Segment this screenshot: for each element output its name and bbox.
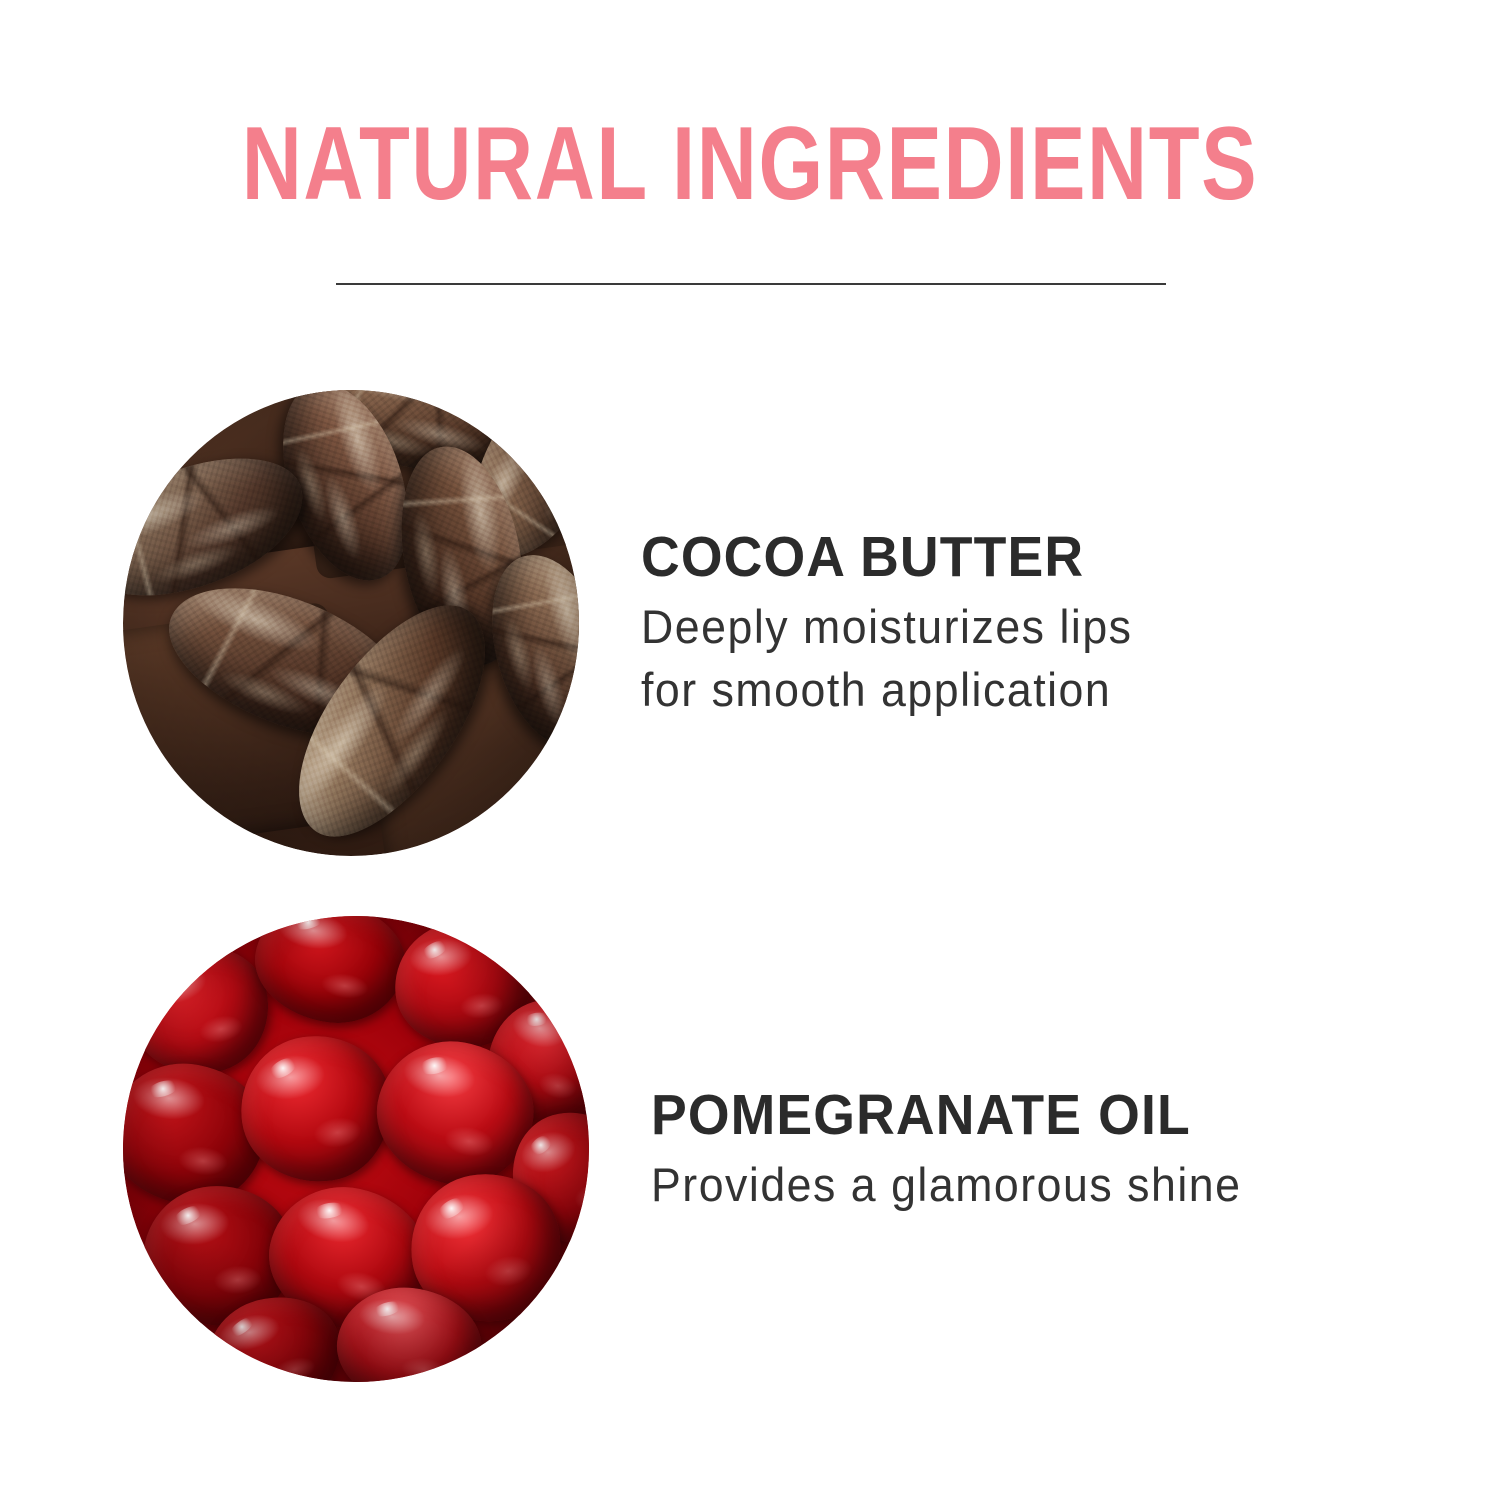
ingredient-row-cocoa-butter: COCOA BUTTER Deeply moisturizes lips for…	[0, 390, 1500, 856]
ingredients-infographic: NATURAL INGREDIENTS COCO	[0, 0, 1500, 1500]
pomegranate-seeds-photo	[123, 916, 589, 1382]
page-title: NATURAL INGREDIENTS	[150, 112, 1350, 216]
cocoa-butter-text-block: COCOA BUTTER Deeply moisturizes lips for…	[641, 525, 1158, 721]
ingredient-title-pomegranate-oil: POMEGRANATE OIL	[651, 1083, 1235, 1147]
ingredient-description-pomegranate-oil: Provides a glamorous shine	[651, 1153, 1241, 1216]
pomegranate-oil-text-block: POMEGRANATE OIL Provides a glamorous shi…	[651, 1083, 1273, 1216]
cocoa-beans-image	[123, 390, 579, 856]
cocoa-beans-photo	[123, 390, 579, 856]
pomegranate-aril	[247, 916, 412, 1032]
pomegranate-image	[123, 916, 589, 1382]
ingredient-title-cocoa-butter: COCOA BUTTER	[641, 525, 1127, 589]
pomegranate-aril	[331, 1281, 487, 1382]
title-divider	[336, 283, 1166, 285]
ingredient-row-pomegranate-oil: POMEGRANATE OIL Provides a glamorous shi…	[0, 916, 1500, 1382]
ingredient-description-cocoa-butter: Deeply moisturizes lips for smooth appli…	[641, 595, 1133, 721]
